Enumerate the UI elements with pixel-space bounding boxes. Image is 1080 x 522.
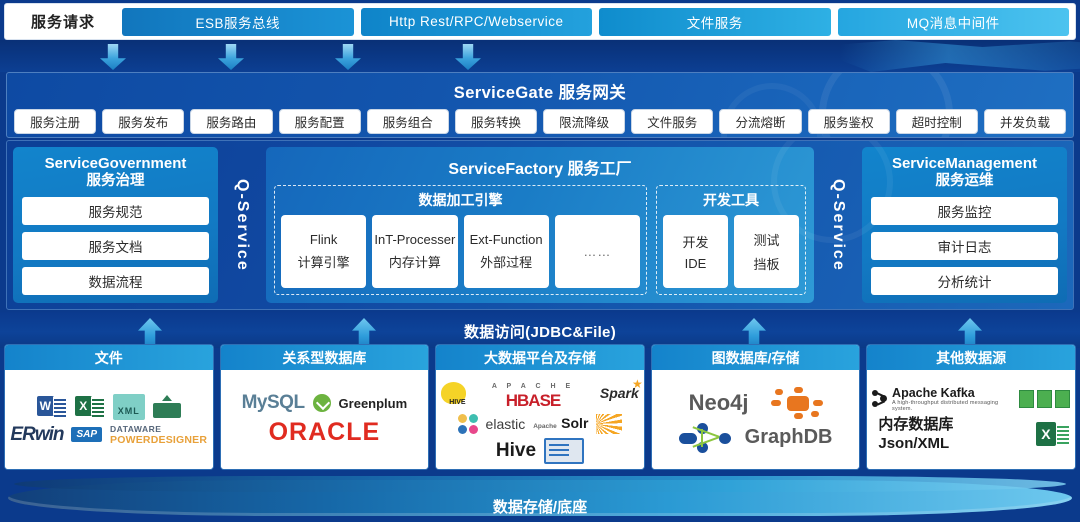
source-card-files-body: W X XML ERwin SAP DATAWARE POWERDESIGNER (5, 370, 213, 469)
dataware-logo: DATAWARE (110, 424, 161, 434)
graphdb-node-icon (771, 387, 823, 419)
engine-cell-flink-line1: Flink (310, 232, 337, 247)
hbase-logo: A P A C H E HBASE (474, 376, 592, 410)
gate-chip-service-compose[interactable]: 服务组合 (367, 109, 449, 134)
kafka-logo: Apache Kafka A high-throughput distribut… (892, 386, 1011, 412)
tools-cell-dev-line2: IDE (685, 256, 707, 271)
other-logo-row-2: 内存数据库 Json/XML X (872, 416, 1070, 454)
flow-arrow-strip (0, 40, 1080, 72)
source-card-files-title: 文件 (5, 345, 213, 370)
relational-logo-row-1: MySQL Greenplum (242, 392, 408, 414)
platter-top-highlight (14, 476, 1066, 492)
graph-logo-row-1: Neo4j (689, 387, 823, 419)
governance-row-data-flow[interactable]: 数据流程 (22, 267, 209, 295)
graphdb-logo: GraphDB (745, 426, 833, 449)
request-button-file-service[interactable]: 文件服务 (599, 8, 831, 36)
request-button-mq[interactable]: MQ消息中间件 (838, 8, 1070, 36)
management-row-analytics[interactable]: 分析统计 (871, 267, 1058, 295)
service-factory-title: ServiceFactory 服务工厂 (274, 152, 806, 185)
source-card-other-sources[interactable]: 其他数据源 Apache Kafka A high-throu (866, 344, 1076, 470)
service-management-title-en: ServiceManagement (871, 155, 1058, 173)
neo4j-logo: Neo4j (689, 390, 749, 416)
engine-cell-int-processer[interactable]: InT-Processer 内存计算 (372, 215, 457, 288)
middle-layer: ServiceGovernment 服务治理 服务规范 服务文档 数据流程 Q-… (6, 140, 1074, 310)
source-card-bigdata[interactable]: 大数据平台及存储 A P A C H E HBASE Spark★ elasti… (435, 344, 645, 470)
hive-bee-icon (441, 382, 466, 404)
service-government-title-en: ServiceGovernment (22, 155, 209, 173)
neo4j-graph-icon (679, 423, 731, 453)
q-service-strip-left: Q-Service (218, 147, 266, 303)
json-xml-label: Json/XML (872, 435, 949, 454)
database-icon (153, 395, 181, 419)
powerdesigner-logo: POWERDESIGNER (110, 434, 207, 446)
oracle-logo: ORACLE (269, 418, 381, 447)
management-row-service-monitor[interactable]: 服务监控 (871, 197, 1058, 225)
gate-chip-service-publish[interactable]: 服务发布 (102, 109, 184, 134)
solr-sunray-icon (596, 414, 622, 434)
greenplum-icon (313, 394, 331, 412)
engine-cell-ext-function-line2: 外部过程 (480, 252, 532, 271)
q-service-label-left: Q-Service (233, 179, 251, 272)
source-card-other-body: Apache Kafka A high-throughput distribut… (867, 370, 1075, 469)
engine-cell-ext-function[interactable]: Ext-Function 外部过程 (464, 215, 549, 288)
service-government-title-cn: 服务治理 (22, 173, 209, 190)
engine-cell-ext-function-line1: Ext-Function (470, 232, 543, 247)
source-card-relational-body: MySQL Greenplum ORACLE (221, 370, 429, 469)
tools-cell-test-line2: 挡板 (753, 254, 779, 273)
solr-label: Solr (561, 415, 588, 431)
data-processing-engine-title: 数据加工引擎 (281, 189, 640, 215)
table-grid-icon (1019, 390, 1070, 408)
source-card-graph-db[interactable]: 图数据库/存储 Neo4j (651, 344, 861, 470)
service-factory-body: 数据加工引擎 Flink 计算引擎 InT-Processer 内存计算 Ext… (274, 185, 806, 295)
management-row-audit-log[interactable]: 审计日志 (871, 232, 1058, 260)
source-card-graph-title: 图数据库/存储 (652, 345, 860, 370)
engine-cell-flink[interactable]: Flink 计算引擎 (281, 215, 366, 288)
elasticsearch-icon (458, 414, 478, 434)
solr-apache-label: Apache (533, 423, 556, 430)
sap-logo: SAP (71, 427, 102, 442)
tools-cell-dev-ide[interactable]: 开发 IDE (663, 215, 728, 288)
storage-base-label: 数据存储/底座 (0, 496, 1080, 517)
service-request-band: 服务请求 ESB服务总线 Http Rest/RPC/Webservice 文件… (4, 3, 1076, 40)
gate-chip-timeout-control[interactable]: 超时控制 (896, 109, 978, 134)
service-management-heading: ServiceManagement 服务运维 (871, 155, 1058, 190)
hive-logo: Hive (496, 440, 536, 462)
gate-chip-service-auth[interactable]: 服务鉴权 (808, 109, 890, 134)
storage-base-platter: 数据存储/底座 (0, 470, 1080, 522)
other-logo-row-1: Apache Kafka A high-throughput distribut… (872, 386, 1070, 412)
service-government-card: ServiceGovernment 服务治理 服务规范 服务文档 数据流程 (13, 147, 218, 303)
erwin-logo: ERwin (10, 424, 63, 446)
diagram-canvas: 服务请求 ESB服务总线 Http Rest/RPC/Webservice 文件… (0, 0, 1080, 522)
elastic-logo: elastic (486, 416, 526, 432)
gate-chip-service-transform[interactable]: 服务转换 (455, 109, 537, 134)
hbase-apache-label: A P A C H E (492, 383, 574, 390)
request-button-esb[interactable]: ESB服务总线 (122, 8, 354, 36)
excel-icon: X (75, 394, 105, 420)
source-card-other-title: 其他数据源 (867, 345, 1075, 370)
kafka-tagline: A high-throughput distributed messaging … (892, 400, 1011, 412)
relational-logo-row-2: ORACLE (269, 418, 381, 447)
gate-chip-service-route[interactable]: 服务路由 (190, 109, 272, 134)
kafka-icon (872, 389, 889, 409)
governance-row-service-spec[interactable]: 服务规范 (22, 197, 209, 225)
data-source-card-row: 文件 W X XML ERwin SAP DATAWARE POWERDESIG… (4, 344, 1076, 470)
source-card-graph-body: Neo4j (652, 370, 860, 469)
files-logo-row-2: ERwin SAP DATAWARE POWERDESIGNER (10, 424, 207, 446)
source-card-bigdata-body: A P A C H E HBASE Spark★ elastic Apache … (436, 370, 644, 469)
mysql-logo: MySQL (242, 392, 305, 414)
service-factory-panel: ServiceFactory 服务工厂 数据加工引擎 Flink 计算引擎 In… (266, 147, 814, 303)
service-gate-panel: ServiceGate 服务网关 服务注册 服务发布 服务路由 服务配置 服务组… (6, 72, 1074, 138)
service-management-card: ServiceManagement 服务运维 服务监控 审计日志 分析统计 (862, 147, 1067, 303)
bigdata-logo-row-2: elastic Apache Solr (458, 414, 623, 434)
excel-icon: X (1036, 422, 1070, 448)
service-request-label: 服务请求 (11, 11, 115, 32)
spark-logo: Spark★ (600, 385, 639, 401)
engine-cell-flink-line2: 计算引擎 (298, 252, 350, 271)
tools-cell-test-line1: 测试 (753, 230, 779, 249)
source-card-relational-title: 关系型数据库 (221, 345, 429, 370)
gate-chip-service-register[interactable]: 服务注册 (14, 109, 96, 134)
gate-chip-file-service[interactable]: 文件服务 (631, 109, 713, 134)
data-processing-engine-group: 数据加工引擎 Flink 计算引擎 InT-Processer 内存计算 Ext… (274, 185, 647, 295)
source-card-bigdata-title: 大数据平台及存储 (436, 345, 644, 370)
source-card-files[interactable]: 文件 W X XML ERwin SAP DATAWARE POWERDESIG… (4, 344, 214, 470)
gate-chip-circuit-breaker[interactable]: 分流熔断 (719, 109, 801, 134)
governance-row-service-doc[interactable]: 服务文档 (22, 232, 209, 260)
engine-cell-int-processer-line1: InT-Processer (374, 232, 455, 247)
in-memory-db-label: 内存数据库 (872, 416, 953, 435)
engine-cell-int-processer-line2: 内存计算 (389, 252, 441, 271)
gate-chip-rate-limit[interactable]: 限流降级 (543, 109, 625, 134)
engine-cell-row: Flink 计算引擎 InT-Processer 内存计算 Ext-Functi… (281, 215, 640, 288)
gate-chip-concurrency-load[interactable]: 并发负载 (984, 109, 1066, 134)
solr-logo: Apache Solr (533, 416, 588, 432)
request-button-http-rest[interactable]: Http Rest/RPC/Webservice (361, 8, 593, 36)
service-gate-title: ServiceGate 服务网关 (7, 73, 1073, 103)
graph-logo-row-2: GraphDB (679, 423, 833, 453)
bigdata-logo-row-3: Hive (496, 438, 584, 464)
data-access-bar: 数据访问(JDBC&File) (0, 312, 1080, 348)
word-icon: W (37, 394, 67, 420)
file-stack-icon (544, 438, 584, 464)
files-logo-row-1: W X XML (37, 394, 181, 420)
kafka-label: Apache Kafka (892, 386, 975, 400)
greenplum-logo: Greenplum (339, 396, 408, 411)
source-card-relational-db[interactable]: 关系型数据库 MySQL Greenplum ORACLE (220, 344, 430, 470)
gate-chip-service-config[interactable]: 服务配置 (279, 109, 361, 134)
service-gate-chip-row: 服务注册 服务发布 服务路由 服务配置 服务组合 服务转换 限流降级 文件服务 … (7, 103, 1073, 134)
tools-cell-dev-line1: 开发 (682, 232, 708, 251)
xml-icon: XML (113, 394, 145, 420)
tools-cell-row: 开发 IDE 测试 挡板 (663, 215, 799, 288)
service-management-title-cn: 服务运维 (871, 173, 1058, 190)
engine-cell-more[interactable]: …… (555, 215, 640, 288)
hbase-label: HBASE (506, 391, 561, 410)
data-access-title: 数据访问(JDBC&File) (0, 321, 1080, 342)
bigdata-logo-row-1: A P A C H E HBASE Spark★ (441, 376, 639, 410)
service-government-heading: ServiceGovernment 服务治理 (22, 155, 209, 190)
